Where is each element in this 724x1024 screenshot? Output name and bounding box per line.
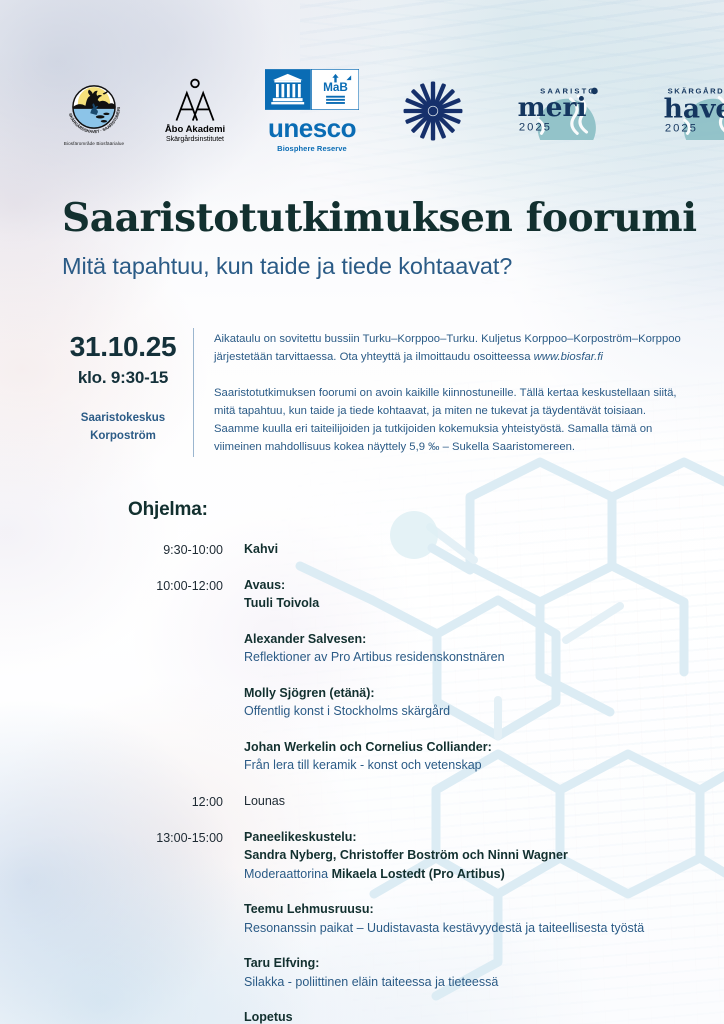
event-when-where: 31.10.25 klo. 9:30-15 Saaristokeskus Kor…	[62, 328, 184, 457]
program-row-details: Avaus: Tuuli Toivola Alexander Salvesen:…	[223, 576, 505, 775]
program-item-title: Kahvi	[244, 540, 278, 559]
event-venue: Saaristokeskus Korpoström	[62, 410, 184, 445]
program-row-time: 9:30-10:00	[128, 540, 223, 559]
program-item: Teemu Lehmusruusu: Resonanssin paikat – …	[244, 900, 644, 937]
logo-strip: SKÄRGÅRDSHAVET · SAARISTOMERI Biosfäromr…	[0, 0, 724, 160]
program-item: Taru Elfving: Silakka - poliittinen eläi…	[244, 954, 644, 991]
event-venue-line2: Korpoström	[90, 430, 156, 442]
program-row-details: Kahvi	[223, 540, 278, 559]
event-time: klo. 9:30-15	[62, 368, 184, 388]
program-item-subtitle: Resonanssin paikat – Uudistavasta kestäv…	[244, 919, 644, 938]
website-link[interactable]: www.biosfar.fi	[534, 351, 603, 363]
moderator-label: Moderaattorina	[244, 867, 332, 881]
logo-biosfar-caption: Biosfärområde Biosfäärialue	[64, 141, 124, 146]
program-item: Lopetus	[244, 1008, 644, 1024]
svg-text:MaB: MaB	[323, 81, 348, 94]
program-item-title: Teemu Lehmusruusu:	[244, 900, 644, 919]
program-item-subtitle: Offentlig konst i Stockholms skärgård	[244, 702, 505, 721]
logo-abo-name: Åbo Akademi	[165, 125, 225, 136]
event-description: Aikataulu on sovitettu bussiin Turku–Kor…	[193, 328, 724, 457]
program-item-subtitle: Från lera till keramik - konst och veten…	[244, 756, 505, 775]
logo-biosfar: SKÄRGÅRDSHAVET · SAARISTOMERI Biosfäromr…	[60, 76, 128, 146]
logo-saaristomeri-2025: SAARISTO meri 2025	[504, 83, 616, 140]
page-subtitle: Mitä tapahtuu, kun taide ja tiede kohtaa…	[62, 253, 724, 280]
program-item: Kahvi	[244, 540, 278, 559]
program-row-time: 12:00	[128, 792, 223, 811]
moderator-name: Mikaela Lostedt (Pro Artibus)	[332, 867, 505, 881]
program-item: Lounas	[244, 792, 285, 811]
svg-text:2025: 2025	[665, 122, 698, 134]
program-item: Molly Sjögren (etänä): Offentlig konst i…	[244, 684, 505, 721]
svg-text:havet: havet	[664, 93, 724, 124]
transport-note-text: Aikataulu on sovitettu bussiin Turku–Kor…	[214, 333, 681, 363]
logo-unesco-subtitle: Biosphere Reserve	[277, 144, 347, 153]
program-row: 13:00-15:00 Paneelikeskustelu: Sandra Ny…	[128, 828, 724, 1024]
program-row-details: Paneelikeskustelu: Sandra Nyberg, Christ…	[223, 828, 644, 1024]
program-item-title: Lounas	[244, 792, 285, 811]
program-row-time: 10:00-12:00	[128, 576, 223, 775]
forum-intro: Saaristotutkimuksen foorumi on avoin kai…	[214, 384, 690, 457]
logo-abo-unit: Skärgårdsinstitutet	[166, 136, 224, 144]
program-item-title: Molly Sjögren (etänä):	[244, 684, 505, 703]
program-item-moderator: Moderaattorina Mikaela Lostedt (Pro Arti…	[244, 865, 644, 884]
logo-starburst	[396, 79, 470, 143]
program-row: 12:00 Lounas	[128, 792, 724, 811]
program-row: 9:30-10:00 Kahvi	[128, 540, 724, 559]
page-title: Saaristotutkimuksen foorumi	[62, 198, 724, 239]
program-row-time: 13:00-15:00	[128, 828, 223, 1024]
event-venue-line1: Saaristokeskus	[81, 412, 165, 424]
program-item-title: Taru Elfving:	[244, 954, 644, 973]
program-item-title: Johan Werkelin och Cornelius Colliander:	[244, 738, 505, 757]
svg-text:2025: 2025	[519, 121, 552, 133]
program-item-subtitle: Silakka - poliittinen eläin taiteessa ja…	[244, 973, 644, 992]
program-item-title: Avaus:	[244, 576, 505, 595]
poster-canvas: SKÄRGÅRDSHAVET · SAARISTOMERI Biosfäromr…	[0, 0, 724, 1024]
program-item-title: Paneelikeskustelu:	[244, 828, 644, 847]
program-item: Johan Werkelin och Cornelius Colliander:…	[244, 738, 505, 775]
logo-skargardshavet-2025: SKÄRGÅRDS havet 2025	[650, 83, 724, 140]
program-item-subtitle: Reflektioner av Pro Artibus residenskons…	[244, 648, 505, 667]
logo-unesco: MaB unesco Biosphere Reserve	[262, 69, 362, 153]
logo-unesco-wordmark: unesco	[268, 115, 356, 141]
program-item-speaker: Tuuli Toivola	[244, 594, 505, 613]
program-item-title: Alexander Salvesen:	[244, 630, 505, 649]
event-date: 31.10.25	[62, 332, 184, 361]
transport-note: Aikataulu on sovitettu bussiin Turku–Kor…	[214, 330, 690, 367]
program-item: Avaus: Tuuli Toivola	[244, 576, 505, 613]
program-item: Paneelikeskustelu: Sandra Nyberg, Christ…	[244, 828, 644, 884]
svg-text:meri: meri	[518, 92, 587, 123]
event-info-band: 31.10.25 klo. 9:30-15 Saaristokeskus Kor…	[0, 328, 724, 457]
program-item-title: Lopetus	[244, 1008, 644, 1024]
program-row: 10:00-12:00 Avaus: Tuuli Toivola Alexand…	[128, 576, 724, 775]
program-section: Ohjelma: 9:30-10:00 Kahvi 10:00-12:00 Av…	[128, 499, 724, 1024]
program-row-details: Lounas	[223, 792, 285, 811]
program-item-panelists: Sandra Nyberg, Christoffer Boström och N…	[244, 846, 644, 865]
logo-abo-akademi: Åbo Akademi Skärgårdsinstitutet	[162, 78, 228, 144]
program-heading: Ohjelma:	[128, 499, 724, 521]
program-item: Alexander Salvesen: Reflektioner av Pro …	[244, 630, 505, 667]
